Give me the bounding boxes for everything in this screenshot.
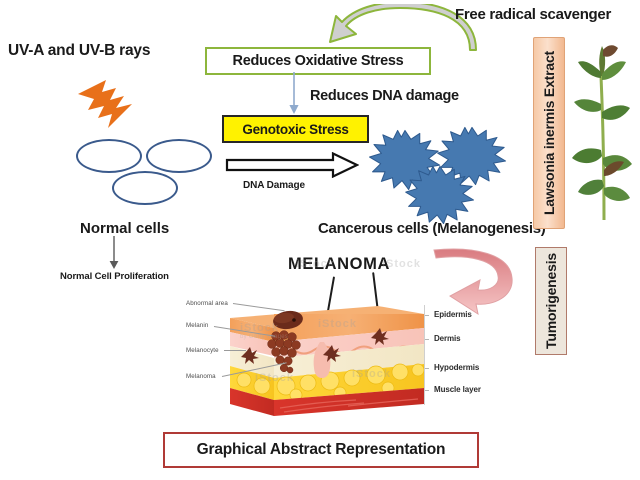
tumorigenesis-label: Tumorigenesis xyxy=(543,253,559,349)
lawsonia-inermis-extract-label: Lawsonia inermis Extract xyxy=(541,51,557,215)
cancerous-cell-burst-3 xyxy=(404,165,476,225)
skin-callout-leader-3 xyxy=(224,350,246,351)
skin-layer-tick-4 xyxy=(425,390,429,391)
free-radical-scavenger-label: Free radical scavenger xyxy=(455,6,611,23)
normal-cell-2 xyxy=(146,139,212,173)
skin-layer-dermis: Dermis xyxy=(434,334,461,343)
normal-cell-proliferation-label: Normal Cell Proliferation xyxy=(60,271,169,282)
skin-callout-abnormal-area: Abnormal area xyxy=(186,300,228,307)
genotoxic-stress-box: Genotoxic Stress xyxy=(222,115,369,143)
uv-lightning-bolt-icon xyxy=(72,78,146,130)
skin-layer-tick-2 xyxy=(425,339,429,340)
skin-layer-hypodermis: Hypodermis xyxy=(434,363,479,372)
skin-layer-muscle: Muscle layer xyxy=(434,385,481,394)
melanoma-label: MELANOMA xyxy=(288,255,390,274)
free-radical-scavenger-curved-arrow xyxy=(318,4,478,56)
graphical-abstract-figure: UV-A and UV-B rays Normal cells Normal C… xyxy=(0,0,640,480)
normal-proliferation-arrow xyxy=(106,236,122,270)
skin-callout-melanoma: Melanoma xyxy=(186,373,216,380)
skin-cross-section-illustration xyxy=(228,300,428,422)
normal-cells-label: Normal cells xyxy=(80,220,169,237)
tumorigenesis-box: Tumorigenesis xyxy=(535,247,567,355)
uv-rays-label: UV-A and UV-B rays xyxy=(8,42,150,60)
cancerous-cells-label: Cancerous cells (Melanogenesis) xyxy=(318,220,545,237)
normal-cell-3 xyxy=(112,171,178,205)
skin-callout-melanin: Melanin xyxy=(186,322,208,329)
tumorigenesis-curved-arrow xyxy=(428,244,526,316)
reduces-dna-damage-label: Reduces DNA damage xyxy=(310,88,459,104)
skin-layer-tick-3 xyxy=(425,368,429,369)
skin-callout-melanocyte: Melanocyte xyxy=(186,347,219,354)
normal-cell-1 xyxy=(76,139,142,173)
dna-damage-label: DNA Damage xyxy=(243,180,305,191)
lawsonia-plant-image xyxy=(568,42,640,224)
oxidative-to-genotoxic-arrow xyxy=(286,72,302,115)
dna-damage-block-arrow xyxy=(225,152,359,178)
lawsonia-inermis-extract-box: Lawsonia inermis Extract xyxy=(533,37,565,229)
graphical-abstract-title-box: Graphical Abstract Representation xyxy=(163,432,479,468)
